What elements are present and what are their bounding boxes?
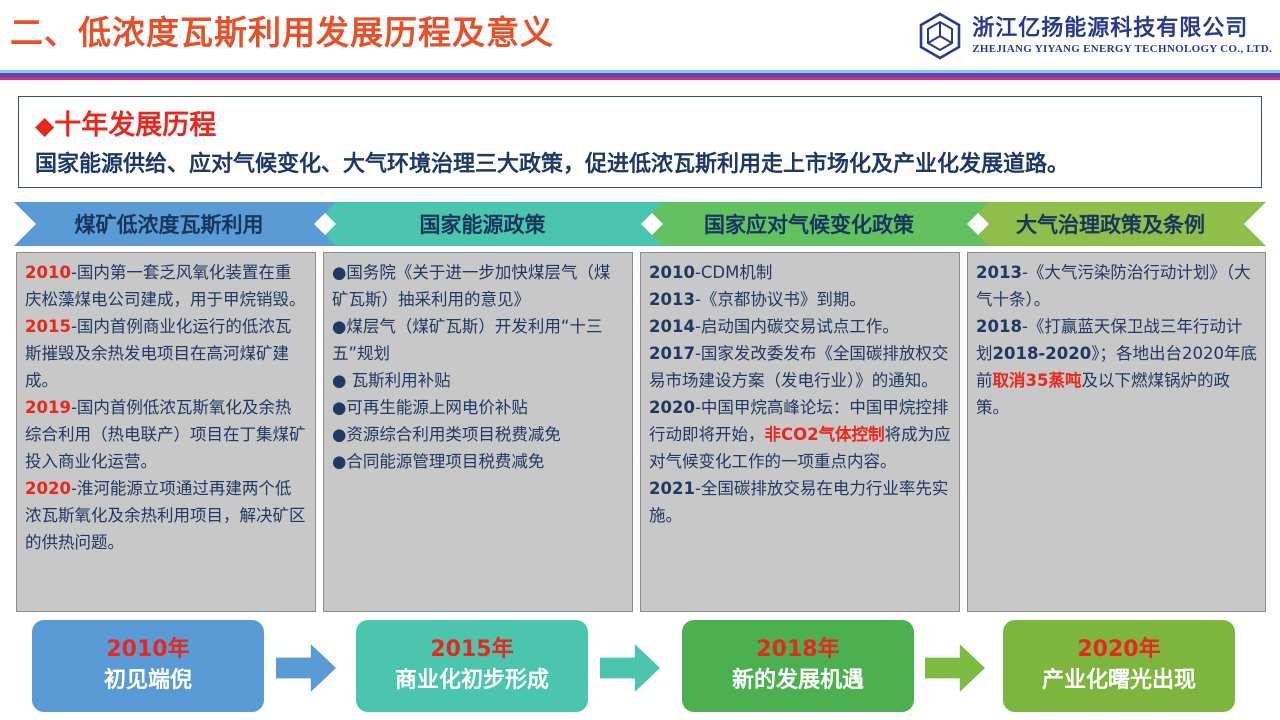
column-air-pollution-control-policy: 2013-《大气污染防治行动计划》（大气十条）。 2018-《打赢蓝天保卫战三年…: [967, 252, 1266, 612]
list-item: 2019-国内首例低浓瓦斯氧化及余热综合利用（热电联产）项目在丁集煤矿投入商业化…: [25, 394, 307, 475]
chevron-label: 煤矿低浓度瓦斯利用: [75, 209, 264, 239]
stage-caption: 新的发展机遇: [732, 665, 864, 697]
stage-year: 2020年: [1077, 635, 1160, 665]
diamond-bullet-icon: ◆: [35, 111, 54, 140]
list-item: ●国务院《关于进一步加快煤层气（煤矿瓦斯）抽采利用的意见》: [332, 259, 624, 313]
list-item: 2017-国家发改委发布《全国碳排放权交易市场建设方案（发电行业）》的通知。: [649, 340, 951, 394]
list-item: ●煤层气（煤矿瓦斯）开发利用“十三五”规划: [332, 313, 624, 367]
stage-box-2[interactable]: 2015年商业化初步形成: [356, 620, 588, 712]
chevron-label: 国家应对气候变化政策: [704, 209, 914, 239]
intro-box: ◆十年发展历程 国家能源供给、应对气候变化、大气环境治理三大政策，促进低浓瓦斯利…: [18, 96, 1262, 188]
chevron-4[interactable]: 大气治理政策及条例: [967, 202, 1266, 246]
column-national-climate-change-policy: 2010-CDM机制 2013-《京都协议书》到期。 2014-启动国内碳交易试…: [640, 252, 960, 612]
stage-caption: 产业化曙光出现: [1042, 665, 1196, 697]
stage-arrow-icon-2: [600, 642, 660, 694]
hexagon-cube-logo-icon: [918, 12, 962, 60]
chevron-1[interactable]: 煤矿低浓度瓦斯利用: [14, 202, 336, 246]
company-logo: 浙江亿扬能源科技有限公司 ZHEJIANG YIYANG ENERGY TECH…: [918, 8, 1272, 64]
list-item: 2013-《京都协议书》到期。: [649, 286, 951, 313]
stage-timeline: 2010年初见端倪2015年商业化初步形成2018年新的发展机遇2020年产业化…: [0, 620, 1280, 720]
stage-arrow-icon-3: [925, 642, 985, 694]
list-item: 2020-淮河能源立项通过再建两个低浓瓦斯氧化及余热利用项目，解决矿区的供热问题…: [25, 475, 307, 556]
stage-year: 2010年: [106, 635, 189, 665]
header-rule-magenta: [0, 77, 1280, 80]
list-item: 2010-国内第一套乏风氧化装置在重庆松藻煤电公司建成，用于甲烷销毁。: [25, 259, 307, 313]
list-item: 2013-《大气污染防治行动计划》（大气十条）。: [976, 259, 1257, 313]
list-item: ●合同能源管理项目税费减免: [332, 448, 624, 475]
list-item: 2015-国内首例商业化运行的低浓瓦斯摧毁及余热发电项目在高河煤矿建成。: [25, 313, 307, 394]
stage-year: 2018年: [756, 635, 839, 665]
stage-box-4[interactable]: 2020年产业化曙光出现: [1003, 620, 1235, 712]
intro-paragraph: 国家能源供给、应对气候变化、大气环境治理三大政策，促进低浓瓦斯利用走上市场化及产…: [35, 146, 1069, 178]
stage-arrow-icon-1: [276, 642, 336, 694]
list-item: 2014-启动国内碳交易试点工作。: [649, 313, 951, 340]
stage-caption: 初见端倪: [104, 665, 192, 697]
list-item: 2010-CDM机制: [649, 259, 951, 286]
column-coal-mine-low-concentration-gas-utilization: 2010-国内第一套乏风氧化装置在重庆松藻煤电公司建成，用于甲烷销毁。 2015…: [16, 252, 316, 612]
chevron-3[interactable]: 国家应对气候变化政策: [641, 202, 989, 246]
chevron-band: 煤矿低浓度瓦斯利用国家能源政策国家应对气候变化政策大气治理政策及条例: [14, 202, 1266, 246]
company-name-en: ZHEJIANG YIYANG ENERGY TECHNOLOGY CO., L…: [972, 44, 1272, 55]
list-item: ● 瓦斯利用补贴: [332, 367, 624, 394]
slide-header: 二、低浓度瓦斯利用发展历程及意义 浙江亿扬能源科技有限公司 ZHEJIANG Y…: [0, 0, 1280, 80]
chevron-label: 国家能源政策: [420, 209, 546, 239]
content-columns: 2010-国内第一套乏风氧化装置在重庆松藻煤电公司建成，用于甲烷销毁。 2015…: [16, 252, 1266, 614]
stage-box-1[interactable]: 2010年初见端倪: [32, 620, 264, 712]
chevron-label: 大气治理政策及条例: [1016, 209, 1205, 239]
intro-heading-text: 十年发展历程: [54, 110, 216, 141]
stage-caption: 商业化初步形成: [395, 665, 549, 697]
column-national-energy-policy: ●国务院《关于进一步加快煤层气（煤矿瓦斯）抽采利用的意见》 ●煤层气（煤矿瓦斯）…: [323, 252, 633, 612]
list-item: 2018-《打赢蓝天保卫战三年行动计划2018-2020》；各地出台2020年底…: [976, 313, 1257, 421]
list-item: 2021-全国碳排放交易在电力行业率先实施。: [649, 475, 951, 529]
stage-box-3[interactable]: 2018年新的发展机遇: [682, 620, 914, 712]
chevron-2[interactable]: 国家能源政策: [314, 202, 663, 246]
slide-root: 二、低浓度瓦斯利用发展历程及意义 浙江亿扬能源科技有限公司 ZHEJIANG Y…: [0, 0, 1280, 720]
list-item: 2020-中国甲烷高峰论坛：中国甲烷控排行动即将开始，非CO2气体控制将成为应对…: [649, 394, 951, 475]
page-title: 二、低浓度瓦斯利用发展历程及意义: [10, 6, 554, 54]
list-item: ●可再生能源上网电价补贴: [332, 394, 624, 421]
intro-heading: ◆十年发展历程: [35, 103, 216, 142]
company-name-cn: 浙江亿扬能源科技有限公司: [972, 18, 1272, 40]
stage-year: 2015年: [430, 635, 513, 665]
list-item: ●资源综合利用类项目税费减免: [332, 421, 624, 448]
company-name-block: 浙江亿扬能源科技有限公司 ZHEJIANG YIYANG ENERGY TECH…: [972, 18, 1272, 55]
